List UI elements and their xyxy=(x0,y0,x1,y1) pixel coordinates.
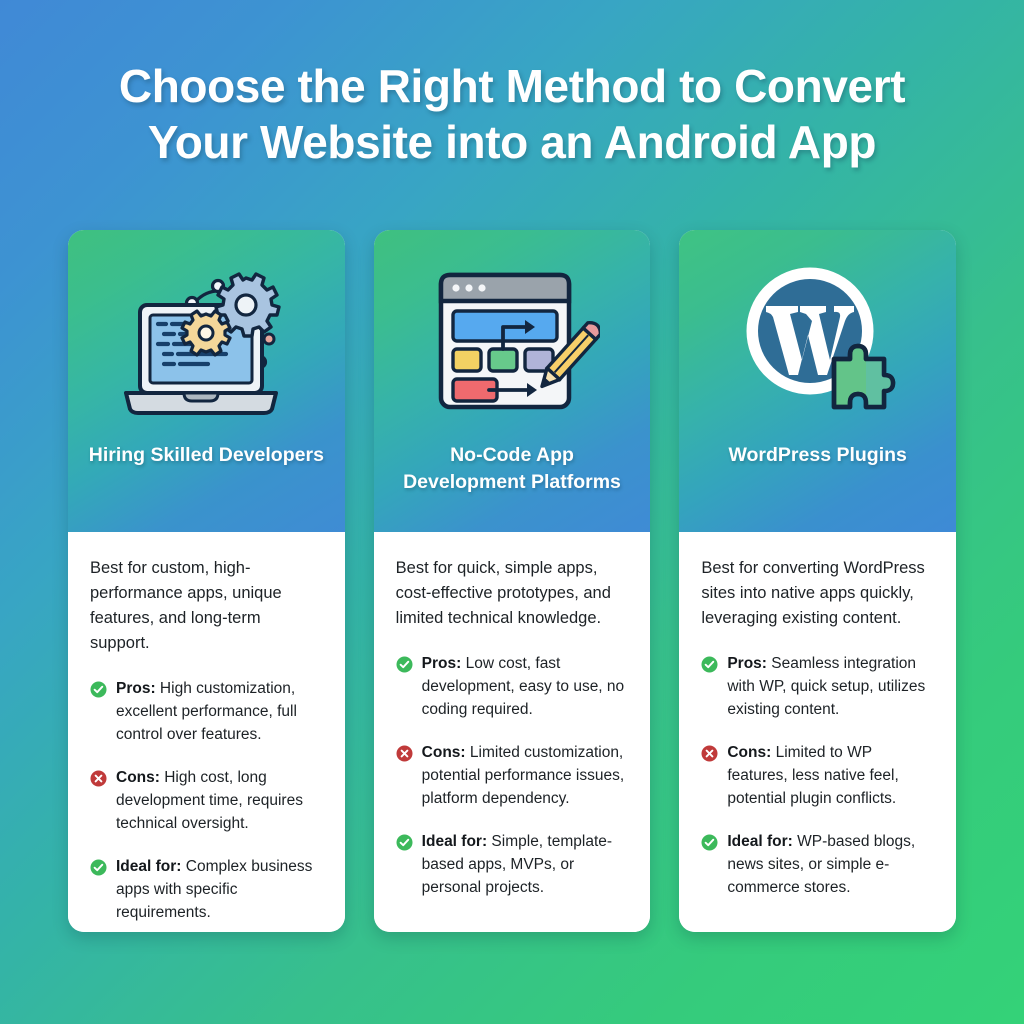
card-title: WordPress Plugins xyxy=(714,442,920,469)
bullet-label: Ideal for: xyxy=(727,833,792,850)
card-title: Hiring Skilled Developers xyxy=(75,442,338,469)
bullet-label: Cons: xyxy=(116,769,160,786)
bullet-text: Ideal for: Complex business apps with sp… xyxy=(116,855,323,924)
bullet-ideal-for: Ideal for: Complex business apps with sp… xyxy=(90,855,323,924)
bullet-cons: Cons: Limited to WP features, less nativ… xyxy=(701,741,934,810)
bullet-text: Pros: Seamless integration with WP, quic… xyxy=(727,652,934,721)
check-circle-icon xyxy=(396,656,413,673)
bullet-label: Cons: xyxy=(727,744,771,761)
card-title: No-Code App Development Platforms xyxy=(374,442,651,496)
check-circle-icon xyxy=(701,834,718,851)
bullet-cons: Cons: Limited customization, potential p… xyxy=(396,741,629,810)
bullet-pros: Pros: High customization, excellent perf… xyxy=(90,677,323,746)
bullet-label: Ideal for: xyxy=(116,858,181,875)
check-circle-icon xyxy=(90,681,107,698)
page-title-line-1: Choose the Right Method to Convert xyxy=(60,58,964,114)
bullet-text: Cons: Limited to WP features, less nativ… xyxy=(727,741,934,810)
bullet-pros: Pros: Low cost, fast development, easy t… xyxy=(396,652,629,721)
bullet-pros: Pros: Seamless integration with WP, quic… xyxy=(701,652,934,721)
bullet-text: Pros: Low cost, fast development, easy t… xyxy=(422,652,629,721)
bullet-label: Pros: xyxy=(422,655,462,672)
bullet-text: Cons: Limited customization, potential p… xyxy=(422,741,629,810)
bullet-text: Ideal for: WP-based blogs, news sites, o… xyxy=(727,830,934,899)
card-summary: Best for quick, simple apps, cost-effect… xyxy=(396,556,629,631)
x-circle-icon xyxy=(90,770,107,787)
bullet-label: Pros: xyxy=(727,655,767,672)
method-cards-row: Hiring Skilled Developers Best for custo… xyxy=(68,230,956,932)
wordpress-puzzle-icon xyxy=(679,230,956,442)
method-card-wordpress-plugins[interactable]: WordPress Plugins Best for converting Wo… xyxy=(679,230,956,932)
bullet-label: Cons: xyxy=(422,744,466,761)
browser-builder-pencil-icon xyxy=(374,230,651,442)
bullet-text: Cons: High cost, long development time, … xyxy=(116,766,323,835)
check-circle-icon xyxy=(396,834,413,851)
page-title-line-2: Your Website into an Android App xyxy=(60,114,964,170)
card-summary: Best for converting WordPress sites into… xyxy=(701,556,934,631)
check-circle-icon xyxy=(90,859,107,876)
card-body: Best for converting WordPress sites into… xyxy=(679,532,956,932)
laptop-code-gears-icon xyxy=(68,230,345,442)
card-header: No-Code App Development Platforms xyxy=(374,230,651,532)
x-circle-icon xyxy=(396,745,413,762)
x-circle-icon xyxy=(701,745,718,762)
method-card-hiring-developers[interactable]: Hiring Skilled Developers Best for custo… xyxy=(68,230,345,932)
card-body: Best for custom, high-performance apps, … xyxy=(68,532,345,932)
bullet-label: Pros: xyxy=(116,680,156,697)
bullet-text: Pros: High customization, excellent perf… xyxy=(116,677,323,746)
card-header: Hiring Skilled Developers xyxy=(68,230,345,532)
bullet-cons: Cons: High cost, long development time, … xyxy=(90,766,323,835)
card-body: Best for quick, simple apps, cost-effect… xyxy=(374,532,651,932)
bullet-text: Ideal for: Simple, template-based apps, … xyxy=(422,830,629,899)
card-header: WordPress Plugins xyxy=(679,230,956,532)
bullet-label: Ideal for: xyxy=(422,833,487,850)
method-card-no-code-platforms[interactable]: No-Code App Development Platforms Best f… xyxy=(374,230,651,932)
card-summary: Best for custom, high-performance apps, … xyxy=(90,556,323,656)
bullet-ideal-for: Ideal for: Simple, template-based apps, … xyxy=(396,830,629,899)
bullet-ideal-for: Ideal for: WP-based blogs, news sites, o… xyxy=(701,830,934,899)
page-title: Choose the Right Method to Convert Your … xyxy=(0,58,1024,170)
check-circle-icon xyxy=(701,656,718,673)
